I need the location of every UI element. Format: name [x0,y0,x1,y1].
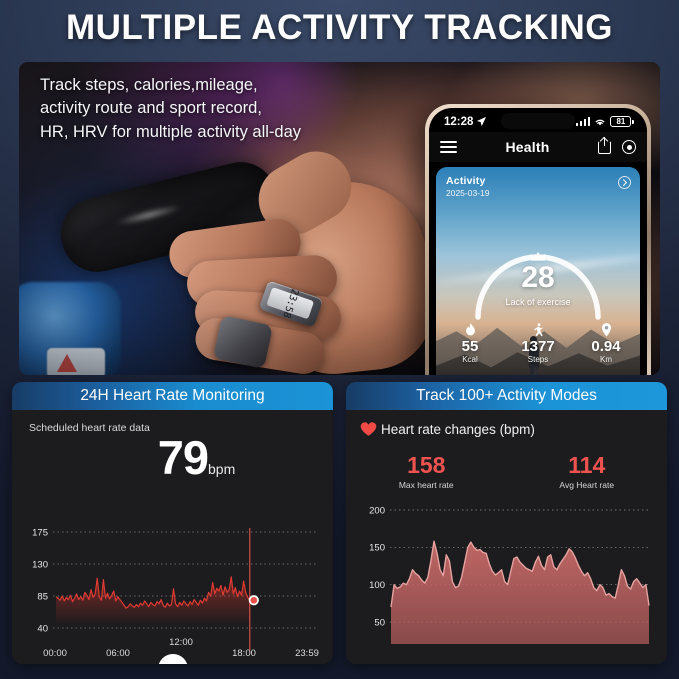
svg-text:175: 175 [32,527,48,538]
battery-level: 81 [616,117,625,126]
panel-right-header: Track 100+ Activity Modes [346,382,667,410]
stat-kcal: 55 Kcal [436,323,504,364]
activity-score-gauge: 28 Lack of exercise [468,217,608,325]
metric-avg-hr-label: Avg Heart rate [507,480,668,490]
stat-steps-label: Steps [504,355,572,364]
hr-metrics-row: 158 Max heart rate 114 Avg Heart rate [346,452,667,490]
svg-text:130: 130 [32,559,48,570]
target-icon[interactable] [622,140,636,154]
metric-max-hr-value: 158 [346,452,507,479]
stat-kcal-label: Kcal [436,355,504,364]
phone-screen: 12:28 81 [429,108,647,375]
wifi-icon [594,117,606,127]
metric-max-hr-label: Max heart rate [346,480,507,490]
battery-icon: 81 [610,116,634,127]
svg-text:18:00: 18:00 [232,648,256,659]
svg-text:23:59: 23:59 [295,648,319,659]
page-title: MULTIPLE ACTIVITY TRACKING [0,8,679,48]
status-time: 12:28 [444,116,473,128]
hero-caption-line-2: activity route and sport record, [40,97,400,120]
hero-caption-line-3: HR, HRV for multiple activity all-day [40,121,400,144]
phone-status-bar: 12:28 81 [429,108,647,132]
stat-steps: 1377 Steps [504,323,572,364]
metric-avg-hr-value: 114 [507,452,668,479]
flame-icon [436,323,504,338]
cellular-signal-icon [576,117,591,126]
svg-text:40: 40 [37,623,48,634]
activity-card[interactable]: Activity 2025-03-19 28 Lack of exercise [436,167,640,375]
walking-person-icon [504,323,572,338]
hero-caption-line-1: Track steps, calories,mileage, [40,74,400,97]
app-title: Health [457,139,598,155]
stat-steps-value: 1377 [504,338,572,355]
stat-km-value: 0.94 [572,338,640,355]
activity-card-header: Activity 2025-03-19 [446,175,489,198]
chart-24h-heart-rate[interactable]: 4085130175 00:0006:0012:0018:0023:59 [20,520,325,660]
hr-changes-label: Heart rate changes (bpm) [381,422,535,437]
app-bar-icons [598,140,636,154]
panel-left-body: Scheduled heart rate data 79bpm 40851301… [12,410,333,664]
hr-changes-header: Heart rate changes (bpm) [360,421,535,437]
hero-caption: Track steps, calories,mileage, activity … [40,74,400,144]
svg-text:50: 50 [374,617,385,628]
activity-card-title: Activity [446,175,489,187]
share-icon[interactable] [598,141,611,154]
dynamic-island [501,113,575,129]
svg-text:12:00: 12:00 [169,637,193,648]
phone-app-bar: Health [429,132,647,162]
panel-heart-rate-monitoring: 24H Heart Rate Monitoring Scheduled hear… [12,382,333,664]
location-pin-icon [572,323,640,338]
page-root: MULTIPLE ACTIVITY TRACKING 23:58 Track s… [0,0,679,679]
panel-left-header: 24H Heart Rate Monitoring [12,382,333,410]
current-bpm-value: 79 [158,431,208,484]
metric-max-hr: 158 Max heart rate [346,452,507,490]
stat-km: 0.94 Km [572,323,640,364]
activity-card-date: 2025-03-19 [446,188,489,198]
current-bpm-unit: bpm [208,461,235,477]
metric-avg-hr: 114 Avg Heart rate [507,452,668,490]
hero-photo: 23:58 Track steps, calories,mileage, act… [19,62,660,375]
svg-text:100: 100 [369,580,385,591]
chevron-right-icon[interactable] [618,176,631,189]
stat-kcal-value: 55 [436,338,504,355]
activity-score-value: 28 [521,261,554,295]
location-arrow-icon [476,116,487,127]
panel-activity-modes: Track 100+ Activity Modes Heart rate cha… [346,382,667,664]
activity-stats-row: 55 Kcal 1377 Steps [436,323,640,364]
phone-mockup: 12:28 81 [425,104,651,375]
panel-right-body: Heart rate changes (bpm) 158 Max heart r… [346,410,667,664]
activity-score-caption: Lack of exercise [505,297,570,307]
current-bpm: 79bpm [12,430,333,485]
hamburger-menu-icon[interactable] [440,141,457,152]
svg-text:85: 85 [37,591,48,602]
svg-text:200: 200 [369,505,385,516]
svg-text:06:00: 06:00 [106,648,130,659]
chart-heart-rate-changes[interactable]: 50100150200 [354,496,659,658]
status-left: 12:28 [444,116,487,128]
svg-text:00:00: 00:00 [43,648,67,659]
stat-km-label: Km [572,355,640,364]
status-right: 81 [576,116,634,127]
heart-icon [360,421,377,437]
svg-text:150: 150 [369,543,385,554]
